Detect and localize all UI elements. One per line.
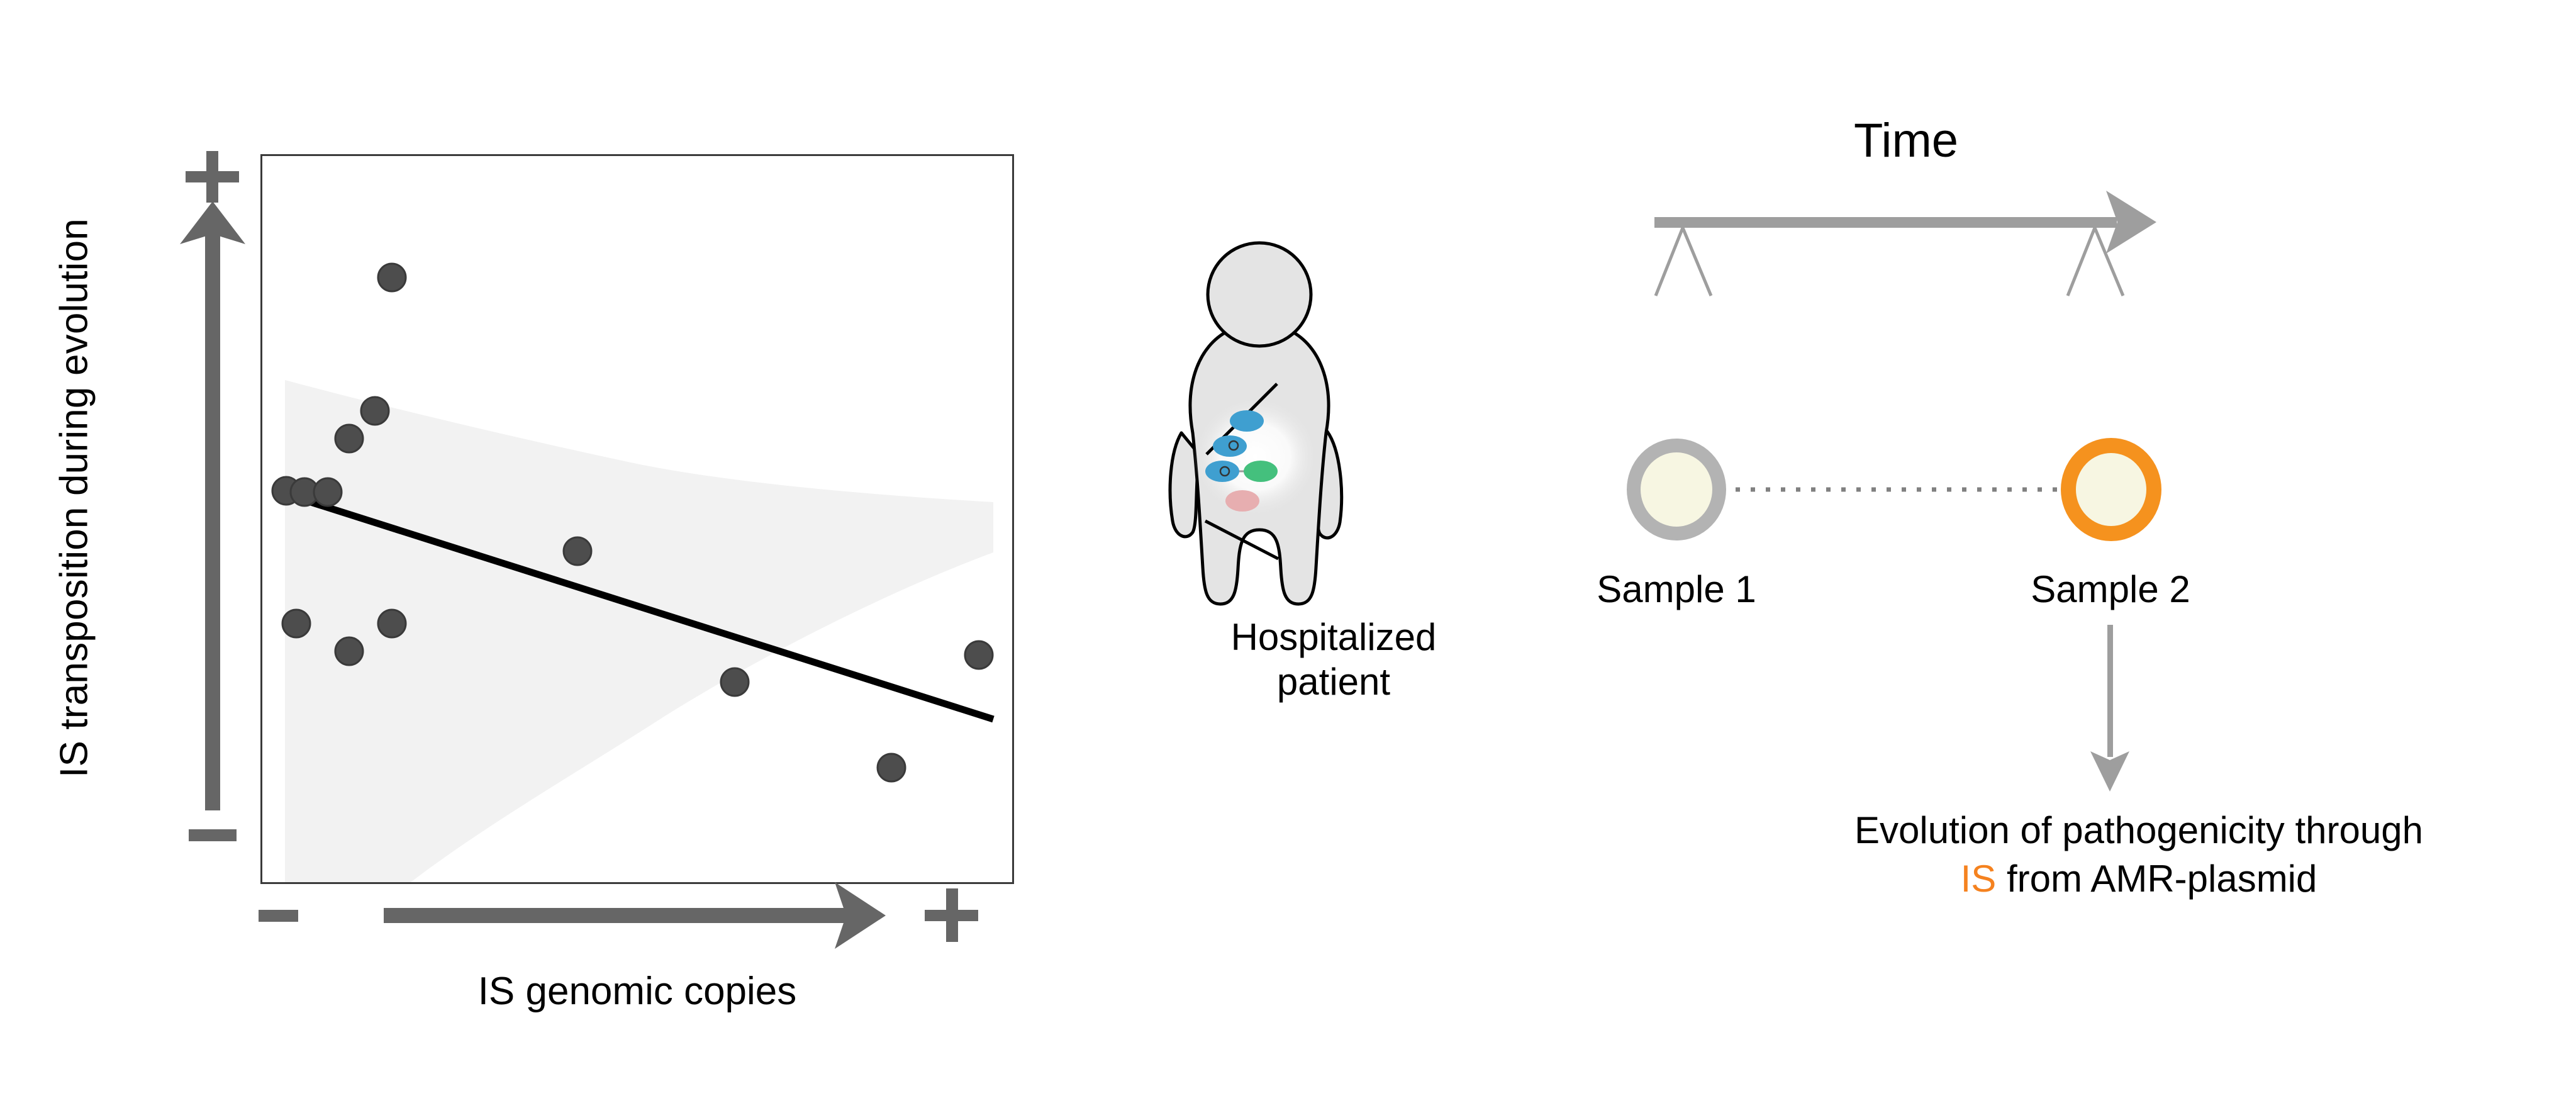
outcome-is-rest: from AMR-plasmid [1996,858,2317,900]
x-axis-arrow-shaft [384,908,849,923]
samples-group [1069,0,2576,1103]
timeline-panel: Time [1069,0,2576,1103]
outcome-caption: Evolution of pathogenicity through IS fr… [1724,807,2554,904]
outcome-is-term: IS [1961,858,1997,900]
outcome-arrow-head [2090,751,2129,792]
sample-2-label: Sample 2 [1953,568,2268,611]
x-axis-plus-icon [925,888,978,942]
scatter-plot-panel: IS transposition during evolution [0,0,1069,1103]
x-axis-arrow-group [0,0,1069,1103]
sample-1-circle [1634,445,1719,534]
sample-2-circle [2068,445,2154,534]
x-axis-minus-icon [259,910,298,922]
x-axis-title: IS genomic copies [260,969,1014,1014]
outcome-caption-line2: IS from AMR-plasmid [1724,855,2554,904]
outcome-caption-line1: Evolution of pathogenicity through [1724,807,2554,855]
outcome-arrow-shaft [2107,625,2113,757]
sample-1-label: Sample 1 [1519,568,1834,611]
